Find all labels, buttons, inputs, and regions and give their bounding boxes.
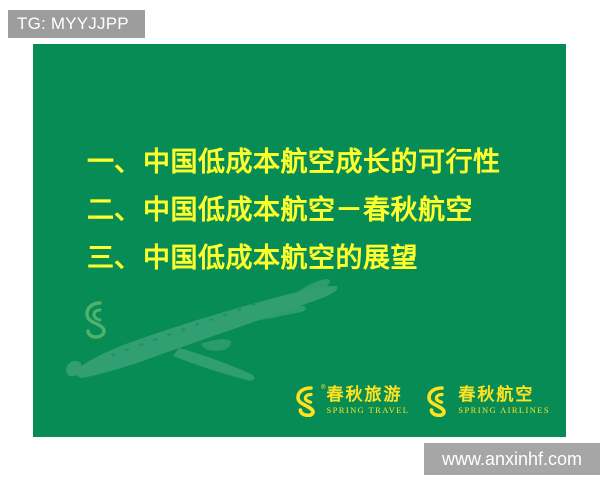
agenda-item-2: 二、 中国低成本航空－春秋航空 — [87, 188, 548, 236]
brand-logo-spring-travel: ® 春秋旅游 SPRING TRAVEL — [292, 385, 410, 417]
spring-swirl-watermark-icon — [80, 300, 114, 340]
brand-text-spring-airlines: 春秋航空 SPRING AIRLINES — [458, 386, 550, 416]
brand-logo-row: ® 春秋旅游 SPRING TRAVEL 春秋航空 SPRING — [292, 385, 550, 417]
brand-text-spring-travel: 春秋旅游 SPRING TRAVEL — [327, 386, 410, 416]
brand-logo-spring-airlines: 春秋航空 SPRING AIRLINES — [423, 385, 550, 417]
tag-badge: TG: MYYJJPP — [8, 10, 145, 38]
agenda-item-1: 一、 中国低成本航空成长的可行性 — [87, 140, 548, 188]
spring-swirl-icon: ® — [292, 385, 322, 417]
brand-name-cn: 春秋旅游 — [327, 386, 410, 405]
agenda-item-2-text: 中国低成本航空－春秋航空 — [143, 188, 473, 227]
agenda-item-3-number: 三、 — [87, 236, 141, 275]
brand-name-cn: 春秋航空 — [458, 386, 550, 405]
agenda-item-3: 三、 中国低成本航空的展望 — [87, 236, 548, 284]
registered-mark: ® — [321, 385, 325, 391]
brand-name-en: SPRING TRAVEL — [327, 405, 410, 416]
brand-name-en: SPRING AIRLINES — [458, 405, 550, 416]
spring-swirl-icon — [423, 385, 453, 417]
agenda-item-2-number: 二、 — [87, 188, 141, 227]
site-watermark: www.anxinhf.com — [424, 443, 600, 475]
agenda-item-1-text: 中国低成本航空成长的可行性 — [143, 140, 501, 179]
page-canvas: 一、 中国低成本航空成长的可行性 二、 中国低成本航空－春秋航空 三、 中国低成… — [0, 0, 600, 480]
agenda-item-1-number: 一、 — [87, 140, 141, 179]
agenda-item-3-text: 中国低成本航空的展望 — [143, 236, 418, 275]
agenda-list: 一、 中国低成本航空成长的可行性 二、 中国低成本航空－春秋航空 三、 中国低成… — [87, 140, 548, 284]
presentation-slide: 一、 中国低成本航空成长的可行性 二、 中国低成本航空－春秋航空 三、 中国低成… — [33, 44, 566, 437]
